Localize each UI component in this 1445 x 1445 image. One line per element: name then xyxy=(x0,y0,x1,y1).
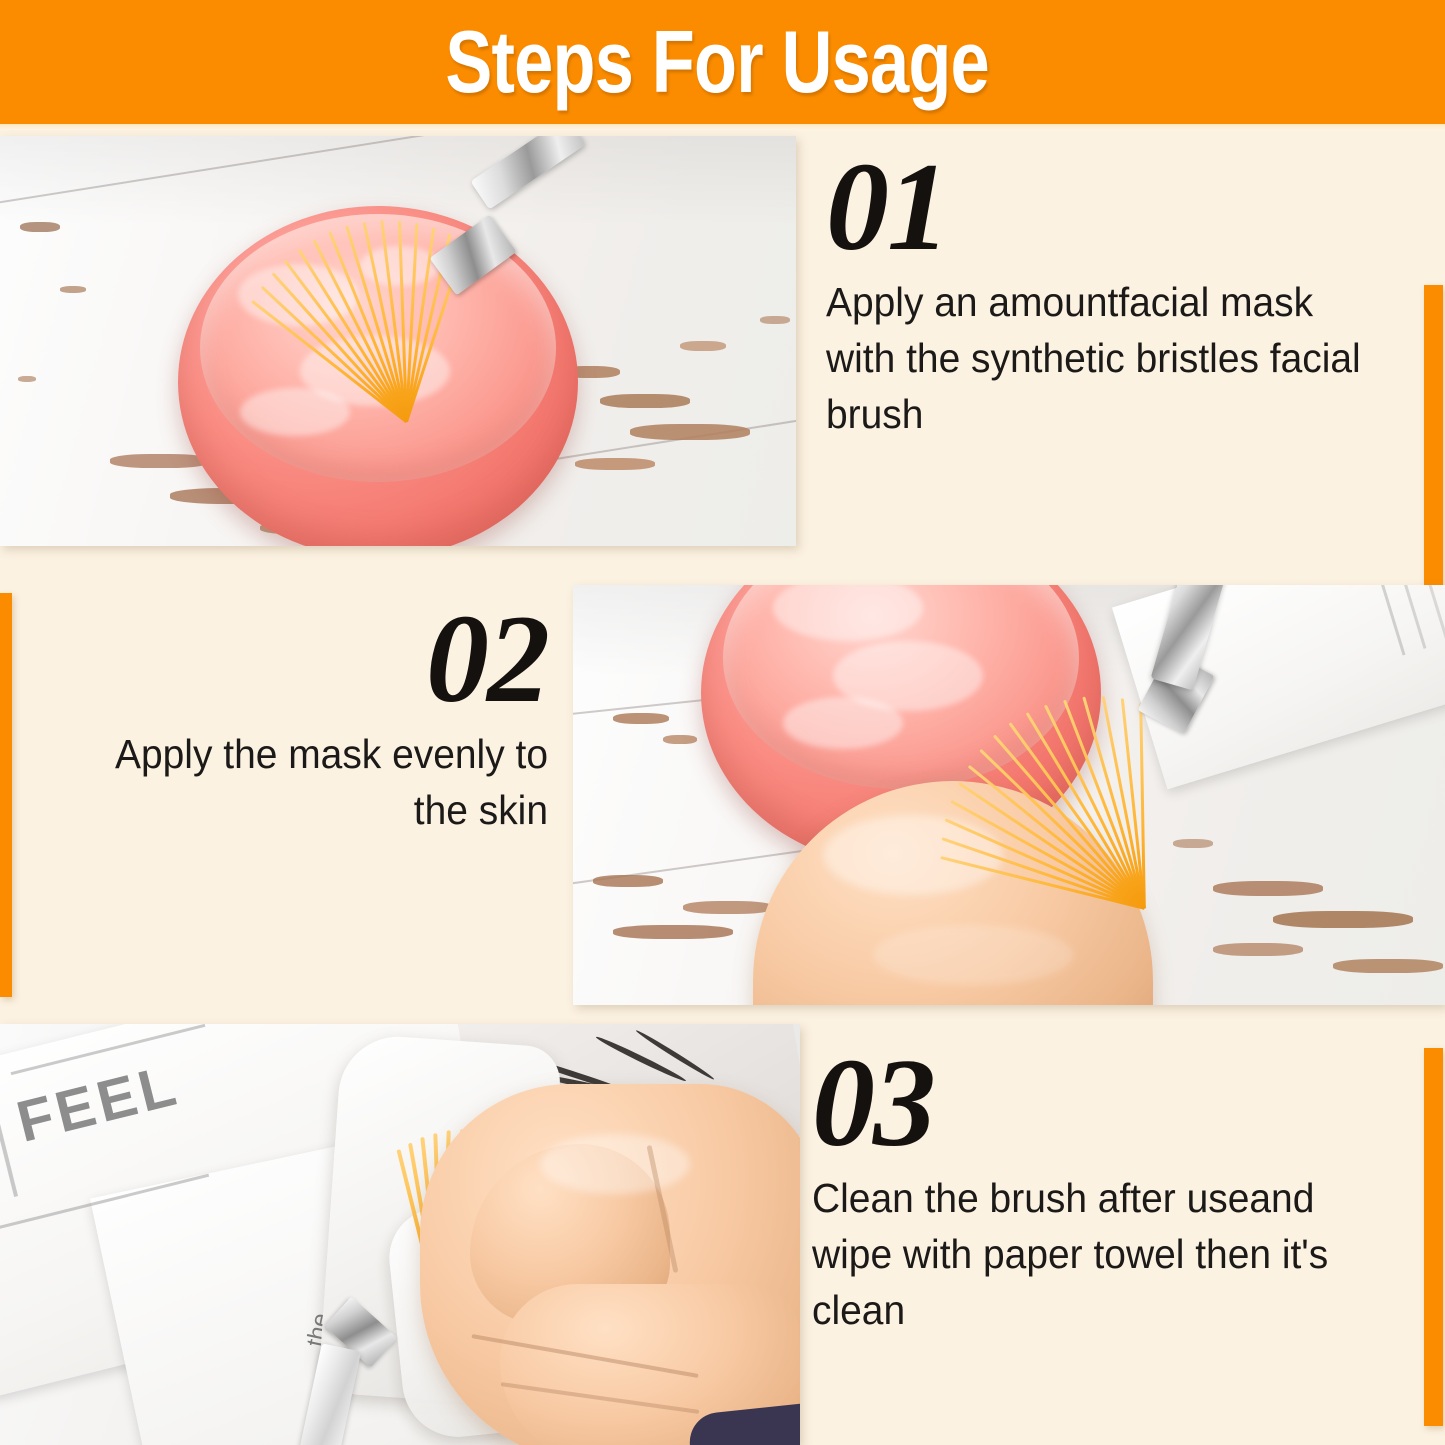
step-3-description: Clean the brush after useand wipe with p… xyxy=(812,1170,1388,1338)
step-2-number: 02 xyxy=(36,604,548,716)
step-1-description: Apply an amountfacial mask with the synt… xyxy=(826,274,1383,442)
step-row-3: FEEL the jo xyxy=(0,1020,1445,1445)
step-2-photo xyxy=(573,585,1445,1005)
step-1-photo xyxy=(0,136,796,546)
infographic-page: Steps For Usage xyxy=(0,0,1445,1445)
page-title: Steps For Usage xyxy=(445,18,1000,106)
header-banner: Steps For Usage xyxy=(0,0,1445,124)
step-3-text: 03 Clean the brush after useand wipe wit… xyxy=(812,1048,1418,1338)
step-1-number: 01 xyxy=(826,152,1412,264)
step-2-text: 02 Apply the mask evenly to the skin xyxy=(36,604,548,838)
step-3-number: 03 xyxy=(812,1048,1418,1160)
step-2-description: Apply the mask evenly to the skin xyxy=(62,726,548,838)
step-1-text: 01 Apply an amountfacial mask with the s… xyxy=(826,152,1412,442)
accent-bar-right-3 xyxy=(1424,1048,1443,1426)
accent-bar-left-2 xyxy=(0,593,12,997)
step-row-2: 02 Apply the mask evenly to the skin xyxy=(0,580,1445,1020)
step-row-1: 01 Apply an amountfacial mask with the s… xyxy=(0,130,1445,580)
step-3-photo: FEEL the jo xyxy=(0,1024,800,1445)
